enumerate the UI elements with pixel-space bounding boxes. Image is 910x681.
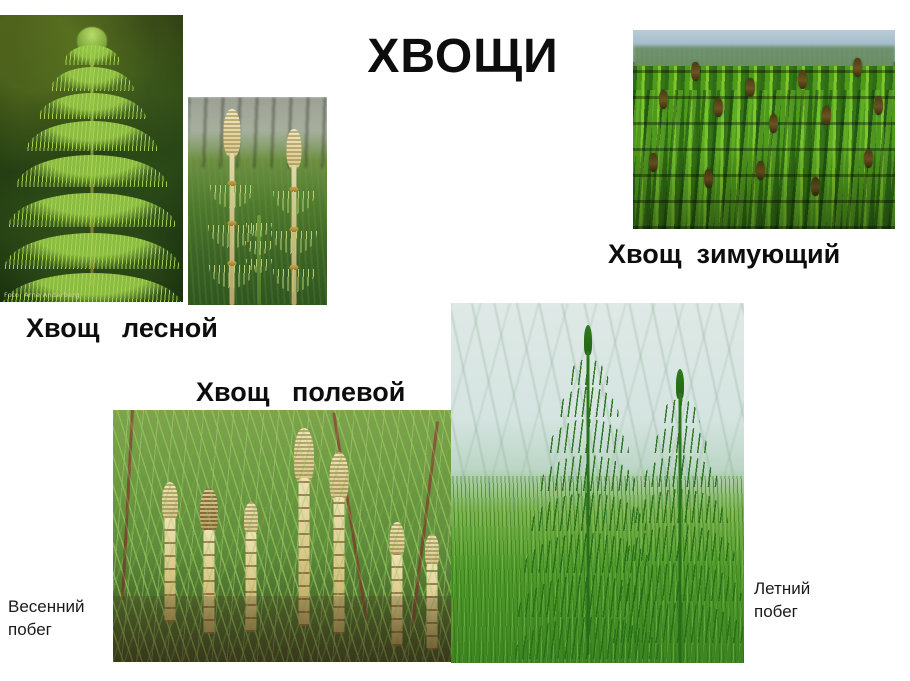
strobilus bbox=[769, 114, 778, 133]
strobilus bbox=[798, 70, 807, 89]
spring-shoot bbox=[273, 129, 315, 305]
strobilus bbox=[853, 58, 862, 77]
photo-wood-horsetail[interactable]: Foto: Arne Anderberg bbox=[0, 15, 183, 302]
strobilus bbox=[659, 90, 668, 109]
photo-field-horsetail-summer[interactable] bbox=[451, 303, 744, 663]
sheath-whorl bbox=[246, 259, 272, 273]
foreground-shadow bbox=[633, 145, 895, 229]
strobilus bbox=[287, 129, 302, 169]
sheath-whorl bbox=[210, 185, 254, 208]
branch-whorl bbox=[611, 603, 744, 643]
caption-field-horsetail: Хвощ полевой bbox=[196, 378, 405, 408]
label-summer-shoot: Летний побег bbox=[754, 578, 810, 624]
branch-whorl bbox=[660, 399, 700, 423]
slide-title: ХВОЩИ bbox=[338, 32, 588, 82]
strobilus bbox=[714, 98, 723, 117]
spring-shoot-small bbox=[244, 215, 274, 305]
strobilus bbox=[874, 96, 883, 115]
branch-whorl bbox=[651, 425, 709, 453]
sheath-whorl bbox=[273, 191, 315, 214]
branch-whorl bbox=[632, 489, 728, 523]
strobilus bbox=[822, 106, 831, 125]
photo-field-horsetail-spring[interactable] bbox=[113, 410, 453, 662]
photo-winter-horsetail[interactable] bbox=[633, 30, 895, 229]
slide-canvas: Foto: Arne Anderberg bbox=[0, 0, 910, 681]
strobilus bbox=[746, 78, 755, 97]
photo-watermark: Foto: Arne Anderberg bbox=[4, 291, 80, 299]
caption-forest-horsetail: Хвощ лесной bbox=[26, 314, 218, 344]
summer-shoot bbox=[609, 369, 744, 663]
branch-whorl bbox=[567, 359, 609, 385]
sheath-whorl bbox=[273, 269, 315, 292]
branch-whorl bbox=[617, 563, 743, 601]
strobilus bbox=[224, 109, 241, 157]
caption-winter-horsetail: Хвощ зимующий bbox=[608, 240, 840, 270]
sheath-whorl bbox=[271, 231, 317, 254]
photo-spring-shoots[interactable] bbox=[188, 97, 327, 305]
branch-whorl bbox=[624, 525, 736, 561]
sheath-whorl bbox=[246, 223, 272, 237]
soil-band bbox=[113, 596, 453, 662]
sheath-whorl bbox=[245, 241, 273, 255]
label-spring-shoot: Весенний побег bbox=[8, 596, 85, 642]
strobilus bbox=[691, 62, 700, 81]
branch-whorl bbox=[641, 455, 719, 487]
